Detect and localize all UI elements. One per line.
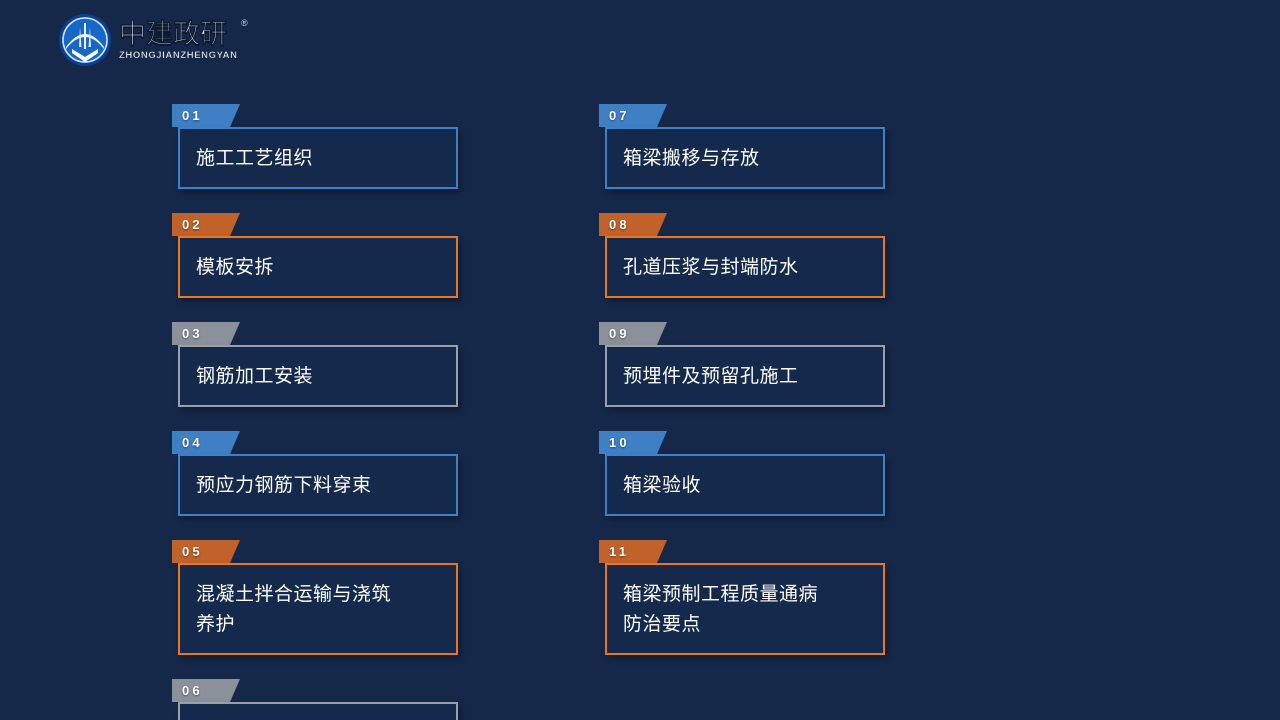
outline-card[interactable]: 10 箱梁验收 — [599, 431, 911, 516]
card-box[interactable]: 孔道压浆与封端防水 — [605, 236, 885, 298]
card-box[interactable]: 混凝土拌合运输与浇筑 养护 — [178, 563, 458, 655]
brand-logo: 中建政研 ® ZHONGJIANZHENGYAN — [58, 11, 248, 69]
left-column: 01 施工工艺组织 02 模板安拆 03 — [172, 104, 484, 720]
card-number: 06 — [182, 680, 203, 701]
outline-card[interactable]: 02 模板安拆 — [172, 213, 484, 298]
card-title: 钢筋加工安装 — [196, 361, 313, 391]
outline-card[interactable]: 07 箱梁搬移与存放 — [599, 104, 911, 189]
card-box[interactable]: 预应力钢筋下料穿束 — [178, 454, 458, 516]
card-number-tab: 08 — [599, 213, 667, 236]
outline-list: 01 施工工艺组织 02 模板安拆 03 — [0, 104, 1280, 704]
bridge-arch-emblem-icon — [58, 13, 112, 67]
outline-card[interactable]: 05 混凝土拌合运输与浇筑 养护 — [172, 540, 484, 655]
card-box[interactable]: 模板安拆 — [178, 236, 458, 298]
card-title: 混凝土拌合运输与浇筑 养护 — [196, 579, 391, 639]
card-number-tab: 07 — [599, 104, 667, 127]
card-title: 箱梁预制工程质量通病 防治要点 — [623, 579, 818, 639]
logo-chinese-name: 中建政研 — [119, 21, 238, 49]
card-number: 08 — [609, 214, 630, 235]
card-number: 09 — [609, 323, 630, 344]
outline-card[interactable]: 04 预应力钢筋下料穿束 — [172, 431, 484, 516]
card-number: 11 — [609, 541, 629, 562]
card-box[interactable]: 施工工艺组织 — [178, 127, 458, 189]
card-number: 07 — [609, 105, 630, 126]
card-number: 01 — [182, 105, 203, 126]
card-number-tab: 09 — [599, 322, 667, 345]
card-number-tab: 03 — [172, 322, 240, 345]
card-box[interactable]: 钢筋加工安装 — [178, 345, 458, 407]
card-box[interactable]: 箱梁验收 — [605, 454, 885, 516]
outline-card[interactable]: 11 箱梁预制工程质量通病 防治要点 — [599, 540, 911, 655]
card-number: 02 — [182, 214, 203, 235]
card-number-tab: 04 — [172, 431, 240, 454]
card-number: 04 — [182, 432, 203, 453]
registered-trademark-icon: ® — [241, 19, 248, 28]
card-box[interactable]: 箱梁搬移与存放 — [605, 127, 885, 189]
right-column: 07 箱梁搬移与存放 08 孔道压浆与封端防水 — [599, 104, 911, 679]
slide-canvas: 中建政研 ® ZHONGJIANZHENGYAN 01 施工工艺组织 — [0, 0, 1280, 720]
card-box[interactable]: 箱梁预制工程质量通病 防治要点 — [605, 563, 885, 655]
card-title: 箱梁搬移与存放 — [623, 143, 760, 173]
card-box[interactable]: 预应力钢筋张拉 — [178, 702, 458, 720]
card-number-tab: 11 — [599, 540, 667, 563]
card-title: 箱梁验收 — [623, 470, 701, 500]
card-title: 预应力钢筋下料穿束 — [196, 470, 372, 500]
card-number-tab: 02 — [172, 213, 240, 236]
card-number: 05 — [182, 541, 203, 562]
card-box[interactable]: 预埋件及预留孔施工 — [605, 345, 885, 407]
card-number: 10 — [609, 432, 630, 453]
card-title: 施工工艺组织 — [196, 143, 313, 173]
outline-card[interactable]: 09 预埋件及预留孔施工 — [599, 322, 911, 407]
card-number-tab: 10 — [599, 431, 667, 454]
card-title: 模板安拆 — [196, 252, 274, 282]
card-number: 03 — [182, 323, 203, 344]
outline-card[interactable]: 03 钢筋加工安装 — [172, 322, 484, 407]
outline-card-current[interactable]: 06 预应力钢筋张拉 — [172, 679, 484, 720]
logo-pinyin: ZHONGJIANZHENGYAN — [119, 50, 238, 61]
card-title: 预埋件及预留孔施工 — [623, 361, 799, 391]
logo-wordmark: 中建政研 ® ZHONGJIANZHENGYAN — [119, 19, 238, 61]
card-number-tab: 01 — [172, 104, 240, 127]
outline-card[interactable]: 08 孔道压浆与封端防水 — [599, 213, 911, 298]
outline-card[interactable]: 01 施工工艺组织 — [172, 104, 484, 189]
card-number-tab: 05 — [172, 540, 240, 563]
card-number-tab: 06 — [172, 679, 240, 702]
card-title: 孔道压浆与封端防水 — [623, 252, 799, 282]
